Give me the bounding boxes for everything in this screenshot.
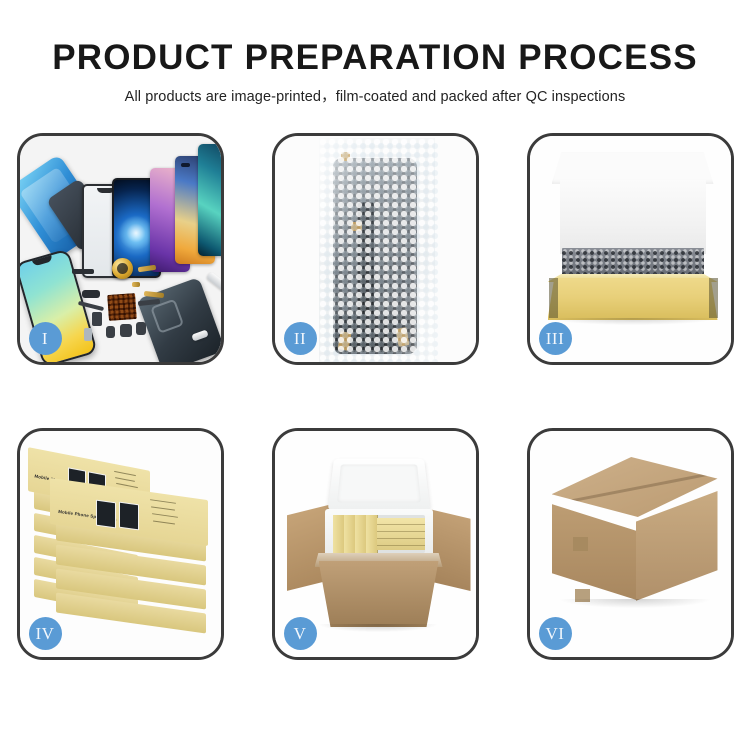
process-step-grid: I II: [0, 133, 750, 660]
gold-connector-2: [132, 282, 140, 287]
packed-box-flat-line-2: [377, 531, 425, 532]
page-title: PRODUCT PREPARATION PROCESS: [0, 40, 750, 75]
part-bar-2: [82, 290, 100, 298]
step-panel-2[interactable]: II: [272, 133, 479, 365]
speaker-module-icon: [112, 258, 133, 279]
step-panel-6[interactable]: VI: [527, 428, 734, 660]
step-panel-1[interactable]: I: [17, 133, 224, 365]
step-badge-3: III: [539, 322, 572, 355]
logic-board-icon: [107, 293, 137, 321]
flex-cable-2: [92, 312, 102, 326]
box-printed-image-4: [119, 502, 139, 531]
packed-box-flat-line-1: [377, 524, 425, 525]
part-bar-1: [72, 269, 94, 274]
box-printed-image-3: [96, 500, 116, 529]
carton-left-face: [552, 504, 637, 600]
plastic-gloss: [319, 138, 435, 362]
sim-tray-icon: [84, 328, 92, 341]
packed-box-flat-line-4: [377, 545, 425, 546]
step-badge-6: VI: [539, 617, 572, 650]
carton-tape-patch-1: [573, 537, 588, 551]
packed-boxes-group: [333, 515, 425, 553]
step-panel-4[interactable]: Mobile Phone Spare Parts Mobile Phone Sp…: [17, 428, 224, 660]
step-badge-2: II: [284, 322, 317, 355]
flex-cable-4: [120, 324, 132, 337]
packed-box-flat-line-3: [377, 538, 425, 539]
box-corner-right: [709, 278, 718, 318]
header: PRODUCT PREPARATION PROCESS All products…: [0, 0, 750, 106]
step-badge-5: V: [284, 617, 317, 650]
repair-tool-icon: [206, 271, 221, 292]
step-panel-5[interactable]: V: [272, 428, 479, 660]
carton-drop-shadow-2: [560, 599, 710, 608]
step-badge-4: IV: [29, 617, 62, 650]
carton-body: [319, 561, 439, 627]
box-back-foam: [560, 180, 706, 254]
page-root: PRODUCT PREPARATION PROCESS All products…: [0, 0, 750, 750]
teal-phone-icon: [198, 144, 221, 256]
page-subtitle: All products are image-printed，film-coat…: [0, 85, 750, 106]
flex-cable-3: [106, 326, 115, 338]
flex-cable-5: [136, 322, 146, 335]
carton-drop-shadow: [319, 624, 437, 632]
phone-back-housing-icon: [136, 277, 220, 362]
box-front-panel: [548, 278, 718, 320]
step-panel-3[interactable]: III: [527, 133, 734, 365]
box-corner-left: [549, 278, 558, 318]
box-drop-shadow: [550, 318, 716, 325]
step-badge-1: I: [29, 322, 62, 355]
foam-lid: [327, 459, 430, 511]
